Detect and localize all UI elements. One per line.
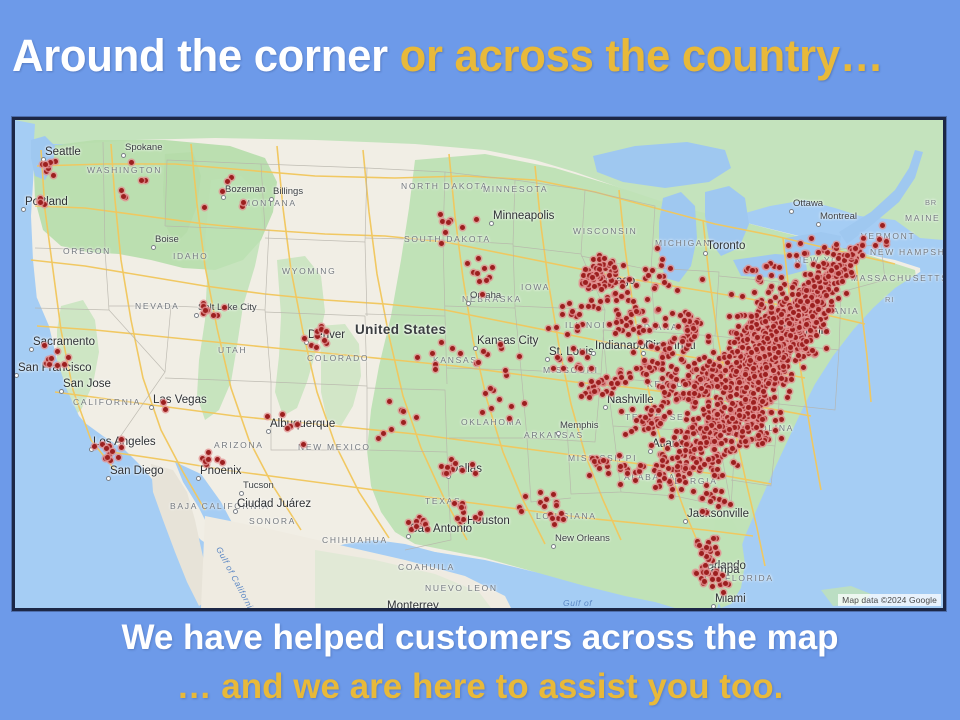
customer-location-dot bbox=[707, 359, 712, 364]
customer-location-dot bbox=[779, 417, 784, 422]
customer-location-dot bbox=[698, 321, 703, 326]
customer-location-dot bbox=[618, 482, 623, 487]
customer-location-dot bbox=[806, 280, 811, 285]
customer-location-dot bbox=[225, 179, 230, 184]
customer-location-dot bbox=[685, 328, 690, 333]
customer-location-dot bbox=[490, 265, 495, 270]
customer-location-dot bbox=[809, 236, 814, 241]
customer-location-dot bbox=[637, 469, 642, 474]
customer-location-dot bbox=[719, 489, 724, 494]
customer-location-dot bbox=[662, 280, 667, 285]
customer-location-dot bbox=[591, 257, 596, 262]
customer-location-dot bbox=[675, 288, 680, 293]
customer-location-dot bbox=[681, 391, 686, 396]
customer-location-dot bbox=[692, 384, 697, 389]
customer-location-dot bbox=[756, 380, 761, 385]
customer-location-dot bbox=[631, 327, 636, 332]
customer-location-dot bbox=[560, 304, 565, 309]
customer-location-dot bbox=[743, 372, 748, 377]
customer-location-dot bbox=[663, 323, 668, 328]
customer-location-dot bbox=[723, 581, 728, 586]
customer-location-dot bbox=[808, 338, 813, 343]
customer-location-dot bbox=[645, 379, 650, 384]
map-viewport[interactable]: WASHINGTONOREGONIDAHOMONTANAWYOMINGNORTH… bbox=[15, 120, 943, 608]
customer-location-dot bbox=[779, 275, 784, 280]
customer-location-dot bbox=[662, 390, 667, 395]
customer-location-dot bbox=[685, 411, 690, 416]
customer-location-dot bbox=[641, 328, 646, 333]
customer-location-dot bbox=[619, 409, 624, 414]
customer-location-dot bbox=[735, 463, 740, 468]
customer-location-dot bbox=[578, 366, 583, 371]
customer-location-dot bbox=[784, 296, 789, 301]
customer-location-dot bbox=[744, 385, 749, 390]
customer-location-dot bbox=[764, 365, 769, 370]
customer-location-dot bbox=[723, 368, 728, 373]
customer-location-dot bbox=[746, 405, 751, 410]
customer-location-dot bbox=[877, 237, 882, 242]
customer-location-dot bbox=[605, 298, 610, 303]
customer-location-dot bbox=[700, 277, 705, 282]
customer-location-dot bbox=[677, 449, 682, 454]
customer-location-dot bbox=[446, 220, 451, 225]
customer-location-dot bbox=[665, 446, 670, 451]
customer-location-dot bbox=[699, 386, 704, 391]
customer-location-dot bbox=[768, 299, 773, 304]
customer-location-dot bbox=[634, 418, 639, 423]
customer-location-dot bbox=[661, 274, 666, 279]
customer-location-dot bbox=[780, 291, 785, 296]
customer-location-dot bbox=[728, 407, 733, 412]
customer-location-dot bbox=[314, 345, 319, 350]
customer-location-dot bbox=[763, 319, 768, 324]
customer-location-dot bbox=[620, 328, 625, 333]
customer-location-dot bbox=[590, 275, 595, 280]
customer-location-dot bbox=[826, 308, 831, 313]
customer-location-dot bbox=[785, 395, 790, 400]
customer-location-dot bbox=[647, 328, 652, 333]
customer-location-dot bbox=[722, 499, 727, 504]
customer-location-dot bbox=[674, 377, 679, 382]
customer-location-dot bbox=[735, 314, 740, 319]
customer-location-dot bbox=[614, 298, 619, 303]
customer-location-dot bbox=[671, 384, 676, 389]
customer-location-dot bbox=[789, 377, 794, 382]
customer-location-dot bbox=[438, 212, 443, 217]
customer-location-dot bbox=[670, 351, 675, 356]
customer-location-dot bbox=[667, 346, 672, 351]
customer-location-dot bbox=[241, 200, 246, 205]
customer-location-dot bbox=[621, 263, 626, 268]
customer-location-dot bbox=[485, 352, 490, 357]
customer-location-dot bbox=[473, 471, 478, 476]
customer-location-dot bbox=[631, 350, 636, 355]
customer-location-dot bbox=[810, 314, 815, 319]
customer-location-dot bbox=[825, 250, 830, 255]
customer-location-dot bbox=[749, 325, 754, 330]
customer-location-dot bbox=[517, 354, 522, 359]
customer-location-dot bbox=[649, 443, 654, 448]
customer-location-dot bbox=[787, 389, 792, 394]
customer-location-dot bbox=[771, 324, 776, 329]
customer-location-dot bbox=[781, 355, 786, 360]
customer-location-dot bbox=[623, 432, 628, 437]
customer-location-dot bbox=[683, 382, 688, 387]
customer-location-dot bbox=[694, 460, 699, 465]
customer-location-dot bbox=[519, 509, 524, 514]
customer-location-dot bbox=[737, 408, 742, 413]
customer-location-dot bbox=[55, 363, 60, 368]
caption-line-2: … and we are here to assist you too. bbox=[0, 664, 960, 710]
customer-location-dot bbox=[749, 350, 754, 355]
customer-location-dot bbox=[804, 339, 809, 344]
customer-location-dot bbox=[720, 573, 725, 578]
customer-location-dot bbox=[609, 391, 614, 396]
customer-location-dot bbox=[804, 322, 809, 327]
customer-location-dot bbox=[779, 376, 784, 381]
customer-location-dot bbox=[659, 263, 664, 268]
customer-location-dot bbox=[645, 297, 650, 302]
customer-location-dot bbox=[302, 336, 307, 341]
customer-location-dot bbox=[475, 271, 480, 276]
customer-location-dot bbox=[406, 520, 411, 525]
customer-location-dot bbox=[716, 459, 721, 464]
customer-location-dot bbox=[655, 246, 660, 251]
customer-location-dot bbox=[497, 397, 502, 402]
customer-location-dot bbox=[656, 408, 661, 413]
customer-location-dot bbox=[710, 577, 715, 582]
customer-location-dot bbox=[723, 438, 728, 443]
customer-location-dot bbox=[522, 401, 527, 406]
customer-location-dot bbox=[786, 243, 791, 248]
customer-location-dot bbox=[850, 252, 855, 257]
customer-location-dot bbox=[559, 511, 564, 516]
customer-location-dot bbox=[737, 380, 742, 385]
customer-location-dot bbox=[742, 313, 747, 318]
customer-location-dot bbox=[477, 279, 482, 284]
customer-location-dot bbox=[684, 417, 689, 422]
customer-location-dot bbox=[728, 394, 733, 399]
customer-location-dot bbox=[129, 160, 134, 165]
customer-location-dot bbox=[712, 473, 717, 478]
customer-location-dot bbox=[560, 312, 565, 317]
customer-location-dot bbox=[679, 357, 684, 362]
customer-location-dot bbox=[776, 350, 781, 355]
customer-location-dot bbox=[727, 427, 732, 432]
customer-location-dot bbox=[715, 384, 720, 389]
customer-location-dot bbox=[478, 511, 483, 516]
customer-location-dot bbox=[116, 455, 121, 460]
customer-location-dot bbox=[728, 502, 733, 507]
customer-location-dot bbox=[710, 367, 715, 372]
customer-location-dot bbox=[704, 554, 709, 559]
customer-location-dot bbox=[694, 571, 699, 576]
customer-location-dot bbox=[693, 400, 698, 405]
customer-location-dot bbox=[853, 259, 858, 264]
customer-location-dot bbox=[387, 399, 392, 404]
customer-location-dot bbox=[698, 446, 703, 451]
customer-location-dot bbox=[723, 378, 728, 383]
customer-location-dot bbox=[634, 283, 639, 288]
customer-location-dot bbox=[713, 571, 718, 576]
customer-location-dot bbox=[597, 466, 602, 471]
customer-location-dot bbox=[777, 265, 782, 270]
customer-location-dot bbox=[461, 517, 466, 522]
customer-location-dot bbox=[824, 293, 829, 298]
customer-location-dot bbox=[831, 252, 836, 257]
customer-location-dot bbox=[315, 334, 320, 339]
customer-location-dot bbox=[629, 429, 634, 434]
customer-location-dot bbox=[657, 479, 662, 484]
customer-location-dot bbox=[624, 323, 629, 328]
customer-location-dot bbox=[614, 320, 619, 325]
customer-location-dot bbox=[836, 296, 841, 301]
customer-location-dot bbox=[675, 455, 680, 460]
customer-location-dot bbox=[62, 362, 67, 367]
customer-location-dot bbox=[458, 351, 463, 356]
customer-location-dot bbox=[455, 516, 460, 521]
customer-location-dot bbox=[719, 441, 724, 446]
customer-location-dot bbox=[711, 350, 716, 355]
customer-location-dot bbox=[844, 273, 849, 278]
customer-location-dot bbox=[607, 273, 612, 278]
customer-location-dot bbox=[425, 527, 430, 532]
customer-location-dot bbox=[834, 242, 839, 247]
caption-line-1: We have helped customers across the map bbox=[0, 615, 960, 661]
customer-location-dot bbox=[596, 380, 601, 385]
customer-location-dot bbox=[606, 471, 611, 476]
customer-location-dot bbox=[810, 303, 815, 308]
customer-location-dot bbox=[652, 286, 657, 291]
customer-location-dot bbox=[734, 432, 739, 437]
customer-location-dot bbox=[618, 464, 623, 469]
customer-location-dot bbox=[453, 461, 458, 466]
customer-location-dot bbox=[798, 241, 803, 246]
customer-location-dot bbox=[756, 326, 761, 331]
customer-location-dot bbox=[579, 382, 584, 387]
customer-location-dot bbox=[662, 476, 667, 481]
customer-location-dot bbox=[660, 438, 665, 443]
customer-location-dot bbox=[658, 421, 663, 426]
customer-location-dot bbox=[773, 418, 778, 423]
customer-location-dot bbox=[581, 273, 586, 278]
customer-location-dot bbox=[49, 356, 54, 361]
customer-location-dot bbox=[555, 355, 560, 360]
customer-location-dot bbox=[692, 447, 697, 452]
customer-location-dot bbox=[646, 426, 651, 431]
customer-location-dot bbox=[589, 379, 594, 384]
customer-location-dot bbox=[763, 372, 768, 377]
customer-location-dot bbox=[670, 487, 675, 492]
customer-location-dot bbox=[631, 299, 636, 304]
customer-location-dot bbox=[483, 391, 488, 396]
customer-location-dot bbox=[650, 359, 655, 364]
customer-location-dot bbox=[669, 494, 674, 499]
customer-location-dot bbox=[861, 236, 866, 241]
customer-location-dot bbox=[703, 563, 708, 568]
customer-location-dot bbox=[460, 225, 465, 230]
customer-location-dot bbox=[860, 243, 865, 248]
customer-location-dot bbox=[507, 416, 512, 421]
customer-location-dot bbox=[295, 422, 300, 427]
customer-location-dot bbox=[702, 579, 707, 584]
customer-location-dot bbox=[450, 346, 455, 351]
customer-location-dot bbox=[773, 355, 778, 360]
customer-location-dot bbox=[601, 458, 606, 463]
customer-location-dot bbox=[762, 354, 767, 359]
customer-location-dot bbox=[229, 175, 234, 180]
customer-location-dot bbox=[700, 496, 705, 501]
customer-location-dot bbox=[324, 329, 329, 334]
customer-location-dot bbox=[623, 380, 628, 385]
customer-location-dot bbox=[674, 442, 679, 447]
customer-location-dot bbox=[587, 473, 592, 478]
customer-location-dot bbox=[660, 367, 665, 372]
customer-location-dot bbox=[633, 478, 638, 483]
customer-location-dot bbox=[711, 362, 716, 367]
customer-location-dot bbox=[444, 471, 449, 476]
customer-location-dot bbox=[565, 332, 570, 337]
customer-location-dot bbox=[439, 340, 444, 345]
customer-location-dot bbox=[613, 331, 618, 336]
customer-location-dot bbox=[752, 406, 757, 411]
customer-location-dot bbox=[586, 304, 591, 309]
customer-location-dot bbox=[414, 524, 419, 529]
customer-location-dot bbox=[794, 253, 799, 258]
customer-location-dot bbox=[814, 333, 819, 338]
customer-location-dot bbox=[626, 332, 631, 337]
customer-location-dot bbox=[716, 504, 721, 509]
customer-location-dot bbox=[47, 362, 52, 367]
customer-location-dot bbox=[717, 356, 722, 361]
customer-location-dot bbox=[474, 217, 479, 222]
customer-location-dot bbox=[596, 306, 601, 311]
customer-location-dot bbox=[119, 437, 124, 442]
customer-location-dot bbox=[480, 292, 485, 297]
customer-location-dot bbox=[503, 368, 508, 373]
customer-location-dot bbox=[808, 272, 813, 277]
customer-location-dot bbox=[769, 273, 774, 278]
customer-location-dot bbox=[706, 339, 711, 344]
customer-location-dot bbox=[592, 284, 597, 289]
customer-location-dot bbox=[222, 305, 227, 310]
customer-location-dot bbox=[504, 373, 509, 378]
customer-location-dot bbox=[119, 188, 124, 193]
customer-location-dot bbox=[551, 492, 556, 497]
customer-location-dot bbox=[577, 312, 582, 317]
customer-location-dot bbox=[550, 516, 555, 521]
customer-location-dot bbox=[796, 313, 801, 318]
customer-location-dot bbox=[848, 263, 853, 268]
customer-location-dot bbox=[650, 268, 655, 273]
customer-location-dot bbox=[683, 466, 688, 471]
customer-location-dot bbox=[265, 414, 270, 419]
customer-location-dot bbox=[710, 584, 715, 589]
customer-location-dot bbox=[706, 334, 711, 339]
customer-location-dot bbox=[802, 251, 807, 256]
customer-location-dot bbox=[740, 294, 745, 299]
customer-location-dot bbox=[734, 360, 739, 365]
customer-location-dot bbox=[554, 503, 559, 508]
customer-location-dot bbox=[609, 278, 614, 283]
customer-location-dot bbox=[680, 339, 685, 344]
customer-location-dot bbox=[670, 311, 675, 316]
customer-location-dot bbox=[55, 349, 60, 354]
customer-location-dot bbox=[706, 404, 711, 409]
customer-location-dot bbox=[772, 395, 777, 400]
customer-location-dot bbox=[381, 431, 386, 436]
customer-location-dot bbox=[646, 273, 651, 278]
customer-location-dot bbox=[460, 468, 465, 473]
customer-location-dot bbox=[818, 285, 823, 290]
customer-location-dot bbox=[657, 472, 662, 477]
customer-location-dot bbox=[401, 409, 406, 414]
customer-location-dot bbox=[139, 178, 144, 183]
customer-location-dot bbox=[722, 405, 727, 410]
customer-location-dot bbox=[643, 267, 648, 272]
customer-location-dot bbox=[602, 256, 607, 261]
customer-location-dot bbox=[663, 316, 668, 321]
customer-location-dot bbox=[751, 366, 756, 371]
customer-location-dot bbox=[817, 279, 822, 284]
customer-location-dot bbox=[66, 355, 71, 360]
customer-location-dot bbox=[798, 299, 803, 304]
customer-location-dot bbox=[721, 590, 726, 595]
customer-location-dot bbox=[740, 345, 745, 350]
customer-location-dot bbox=[834, 265, 839, 270]
customer-location-dot bbox=[92, 444, 97, 449]
customer-location-dot bbox=[815, 299, 820, 304]
customer-location-dot bbox=[773, 376, 778, 381]
customer-location-dot bbox=[668, 266, 673, 271]
page-title: Around the corner or across the country… bbox=[12, 24, 920, 88]
customer-location-dot bbox=[754, 313, 759, 318]
customer-location-dot bbox=[301, 442, 306, 447]
customer-location-dot bbox=[821, 322, 826, 327]
customer-location-dot bbox=[815, 289, 820, 294]
customer-location-dot bbox=[769, 410, 774, 415]
customer-location-dot bbox=[285, 426, 290, 431]
customer-location-dot bbox=[732, 340, 737, 345]
customer-location-dot bbox=[718, 374, 723, 379]
customer-location-dot bbox=[679, 487, 684, 492]
customer-location-dot bbox=[732, 425, 737, 430]
customer-location-dot bbox=[542, 504, 547, 509]
customer-location-dot bbox=[546, 326, 551, 331]
customer-location-dot bbox=[692, 361, 697, 366]
customer-location-dot bbox=[826, 274, 831, 279]
customer-location-dot bbox=[119, 445, 124, 450]
customer-location-dot bbox=[824, 346, 829, 351]
customer-location-dot bbox=[592, 459, 597, 464]
customer-location-dot bbox=[755, 335, 760, 340]
customer-location-dot bbox=[840, 279, 845, 284]
customer-location-dot bbox=[445, 465, 450, 470]
map-container[interactable]: WASHINGTONOREGONIDAHOMONTANAWYOMINGNORTH… bbox=[12, 117, 946, 611]
customer-location-dot bbox=[523, 494, 528, 499]
customer-location-dot bbox=[787, 253, 792, 258]
customer-location-dot bbox=[691, 431, 696, 436]
customer-location-dot bbox=[615, 381, 620, 386]
customer-location-dot bbox=[628, 375, 633, 380]
customer-location-dot bbox=[439, 241, 444, 246]
customer-location-dot bbox=[730, 401, 735, 406]
customer-location-dot bbox=[482, 266, 487, 271]
customer-location-dot bbox=[729, 439, 734, 444]
customer-location-dot bbox=[795, 263, 800, 268]
customer-location-dot bbox=[754, 347, 759, 352]
customer-location-dot bbox=[638, 340, 643, 345]
